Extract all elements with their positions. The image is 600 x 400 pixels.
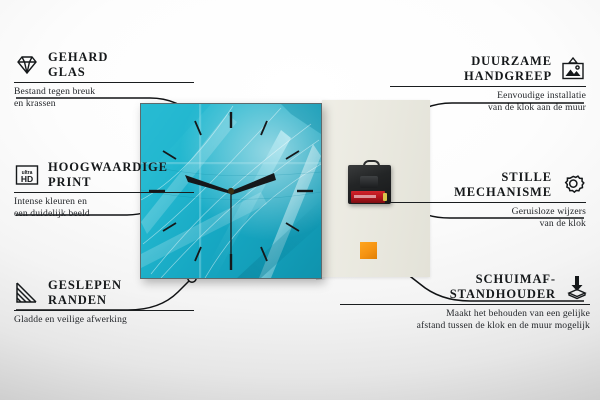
svg-text:HD: HD bbox=[21, 174, 33, 184]
feature-subtitle-2: afstand tussen de klok en de muur mogeli… bbox=[340, 320, 590, 332]
feature-geslepen-randen: GESLEPEN RANDEN Gladde en veilige afwerk… bbox=[14, 278, 194, 326]
feature-title: SCHUIMAF- bbox=[340, 272, 556, 287]
divider bbox=[340, 304, 590, 305]
infographic-canvas: GEHARD GLAS Bestand tegen breuk en krass… bbox=[0, 0, 600, 400]
diamond-icon bbox=[14, 52, 40, 78]
divider bbox=[14, 192, 194, 193]
feature-stille-mechanisme: STILLE MECHANISME Geruisloze wijzers van… bbox=[390, 170, 586, 229]
feature-title: DUURZAME bbox=[390, 54, 552, 69]
feature-subtitle: Geruisloze wijzers bbox=[390, 206, 586, 218]
feature-subtitle: Bestand tegen breuk bbox=[14, 86, 194, 98]
feature-subtitle: Eenvoudige installatie bbox=[390, 90, 586, 102]
feature-title: GEHARD bbox=[48, 50, 108, 65]
battery-positive-tip bbox=[383, 193, 387, 201]
feature-title: HOOGWAARDIGE bbox=[48, 160, 168, 175]
feature-subtitle: Gladde en veilige afwerking bbox=[14, 314, 194, 326]
divider bbox=[14, 82, 194, 83]
feature-title-2: MECHANISME bbox=[390, 185, 552, 200]
divider bbox=[390, 202, 586, 203]
feature-schuimafstandhouder: SCHUIMAF- STANDHOUDER Maakt het behouden… bbox=[340, 272, 590, 331]
foam-spacer bbox=[360, 242, 380, 262]
feature-subtitle: Maakt het behouden van een gelijke bbox=[340, 308, 590, 320]
feature-subtitle-2: van de klok aan de muur bbox=[390, 102, 586, 114]
feature-title: STILLE bbox=[390, 170, 552, 185]
feature-subtitle-2: en krassen bbox=[14, 98, 194, 110]
mechanism-knob bbox=[360, 176, 378, 188]
feature-title-2: GLAS bbox=[48, 65, 108, 80]
ultra-hd-icon: ultra HD bbox=[14, 162, 40, 188]
feature-title-2: HANDGREEP bbox=[390, 69, 552, 84]
feature-title-2: STANDHOUDER bbox=[340, 287, 556, 302]
divider bbox=[14, 310, 194, 311]
feature-duurzame-handgreep: DUURZAME HANDGREEP Eenvoudige installati… bbox=[390, 54, 586, 113]
foam-spacer-pad bbox=[360, 242, 377, 259]
feature-subtitle-2: van de klok bbox=[390, 218, 586, 230]
feature-title-2: PRINT bbox=[48, 175, 168, 190]
clock-movement-mechanism bbox=[348, 160, 391, 204]
picture-frame-hanger-icon bbox=[560, 56, 586, 82]
feature-title: GESLEPEN bbox=[48, 278, 122, 293]
divider bbox=[390, 86, 586, 87]
gear-icon bbox=[560, 172, 586, 198]
spacer-down-arrow-icon bbox=[564, 274, 590, 300]
feature-gehard-glas: GEHARD GLAS Bestand tegen breuk en krass… bbox=[14, 50, 194, 109]
feature-subtitle: Intense kleuren en bbox=[14, 196, 194, 208]
aa-battery bbox=[351, 191, 385, 203]
feature-hoogwaardige-print: ultra HD HOOGWAARDIGE PRINT Intense kleu… bbox=[14, 160, 194, 219]
polished-edge-icon bbox=[14, 280, 40, 306]
mechanism-body bbox=[348, 165, 391, 204]
feature-title-2: RANDEN bbox=[48, 293, 122, 308]
battery-label-stripe bbox=[354, 195, 376, 198]
feature-subtitle-2: een duidelijk beeld bbox=[14, 208, 194, 220]
